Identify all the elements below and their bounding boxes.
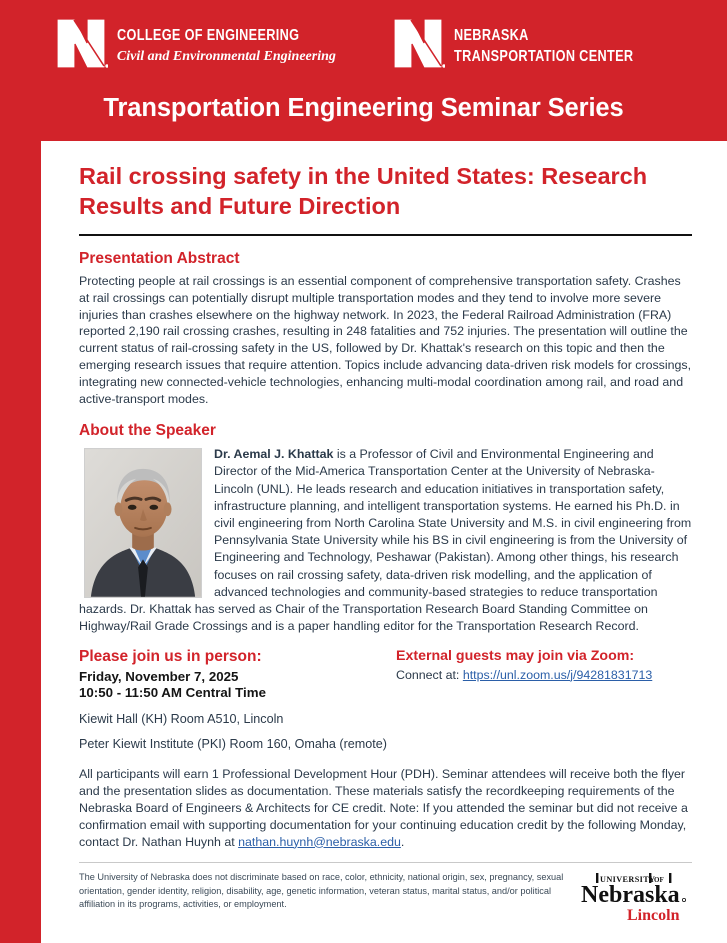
join-in-person-column: Please join us in person: Friday, Novemb…	[79, 648, 391, 753]
speaker-heading: About the Speaker	[79, 422, 692, 440]
pdh-text-part2: .	[401, 835, 404, 849]
seminar-location-lincoln: Kiewit Hall (KH) Room A510, Lincoln	[79, 711, 391, 727]
nebraska-transportation-center-logo: NEBRASKA TRANSPORTATION CENTER	[391, 16, 673, 76]
ntc-wordmark: NEBRASKA TRANSPORTATION CENTER	[454, 27, 673, 65]
join-zoom-heading: External guests may join via Zoom:	[396, 648, 692, 664]
logo-line-primary: COLLEGE OF ENGINEERING	[117, 27, 299, 44]
flyer-page: COLLEGE OF ENGINEERING Civil and Environ…	[0, 0, 727, 943]
footer-divider	[79, 862, 692, 863]
svg-text:Nebraska: Nebraska	[581, 882, 680, 908]
speaker-name: Dr. Aemal J. Khattak	[214, 447, 333, 461]
zoom-link[interactable]: https://unl.zoom.us/j/94281831713	[463, 668, 652, 682]
seminar-location-omaha: Peter Kiewit Institute (PKI) Room 160, O…	[79, 736, 391, 752]
ntc-line-2: TRANSPORTATION CENTER	[454, 48, 633, 65]
zoom-connect-label: Connect at:	[396, 668, 459, 682]
content-panel: Rail crossing safety in the United State…	[41, 141, 727, 943]
seminar-datetime: Friday, November 7, 2025 10:50 - 11:50 A…	[79, 669, 391, 703]
zoom-connect-line: Connect at: https://unl.zoom.us/j/942818…	[396, 668, 692, 682]
page-footer: The University of Nebraska does not disc…	[79, 871, 692, 927]
nondiscrimination-disclaimer: The University of Nebraska does not disc…	[79, 871, 580, 910]
college-of-engineering-wordmark: COLLEGE OF ENGINEERING Civil and Environ…	[117, 27, 339, 65]
join-zoom-column: External guests may join via Zoom: Conne…	[391, 648, 692, 753]
speaker-block: Dr. Aemal J. Khattak is a Professor of C…	[79, 446, 692, 636]
join-in-person-heading: Please join us in person:	[79, 648, 391, 666]
contact-email-link[interactable]: nathan.huynh@nebraska.edu	[238, 835, 401, 849]
unl-lockup-logo: UNIVERSITY OF Nebraska Lincoln	[580, 869, 692, 927]
pdh-notice: All participants will earn 1 Professiona…	[79, 766, 692, 851]
nebraska-n-icon	[391, 16, 445, 76]
seminar-date: Friday, November 7, 2025	[79, 669, 391, 686]
seminar-time: 10:50 - 11:50 AM Central Time	[79, 685, 391, 702]
ntc-line-1: NEBRASKA	[454, 27, 633, 44]
header-logos: COLLEGE OF ENGINEERING Civil and Environ…	[0, 16, 727, 76]
svg-text:Lincoln: Lincoln	[627, 907, 680, 924]
speaker-portrait-photo	[84, 448, 202, 598]
logo-line-secondary: Civil and Environmental Engineering	[117, 49, 339, 65]
page-title: Rail crossing safety in the United State…	[79, 141, 692, 221]
title-divider	[79, 234, 692, 236]
abstract-text: Protecting people at rail crossings is a…	[79, 273, 692, 408]
join-section: Please join us in person: Friday, Novemb…	[79, 648, 692, 753]
seminar-series-title: Transportation Engineering Seminar Serie…	[0, 94, 727, 123]
page-header: COLLEGE OF ENGINEERING Civil and Environ…	[0, 0, 727, 141]
abstract-heading: Presentation Abstract	[79, 250, 692, 268]
college-of-engineering-logo: COLLEGE OF ENGINEERING Civil and Environ…	[54, 16, 339, 76]
nebraska-n-icon	[54, 16, 108, 76]
